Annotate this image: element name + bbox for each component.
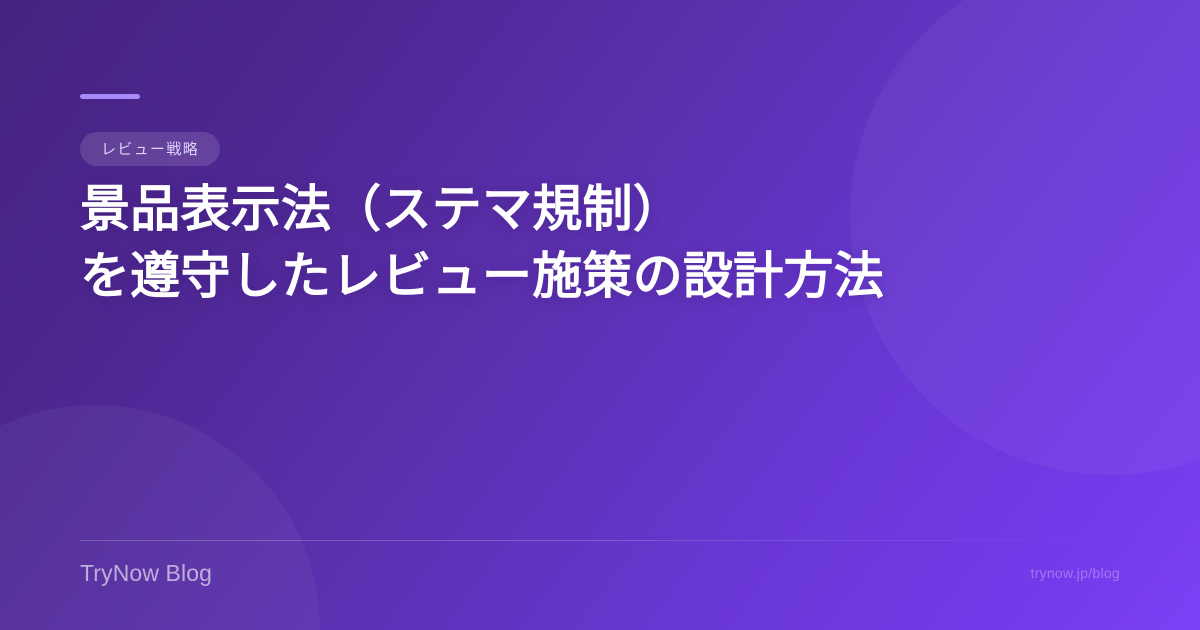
card-footer: TryNow Blog trynow.jp/blog <box>80 560 1120 588</box>
category-badge: レビュー戦略 <box>80 132 220 166</box>
accent-bar <box>80 94 140 99</box>
og-card: レビュー戦略 景品表示法（ステマ規制） を遵守したレビュー施策の設計方法 Try… <box>0 0 1200 630</box>
page-title: 景品表示法（ステマ規制） を遵守したレビュー施策の設計方法 <box>80 176 884 310</box>
page-title-line-1: 景品表示法（ステマ規制） <box>80 176 884 243</box>
brand-name: TryNow Blog <box>80 560 212 588</box>
card-content: レビュー戦略 景品表示法（ステマ規制） を遵守したレビュー施策の設計方法 <box>80 0 1120 630</box>
site-url: trynow.jp/blog <box>1030 565 1120 582</box>
footer-divider <box>80 540 1120 541</box>
category-badge-label: レビュー戦略 <box>101 142 199 157</box>
page-title-line-2: を遵守したレビュー施策の設計方法 <box>80 243 884 310</box>
